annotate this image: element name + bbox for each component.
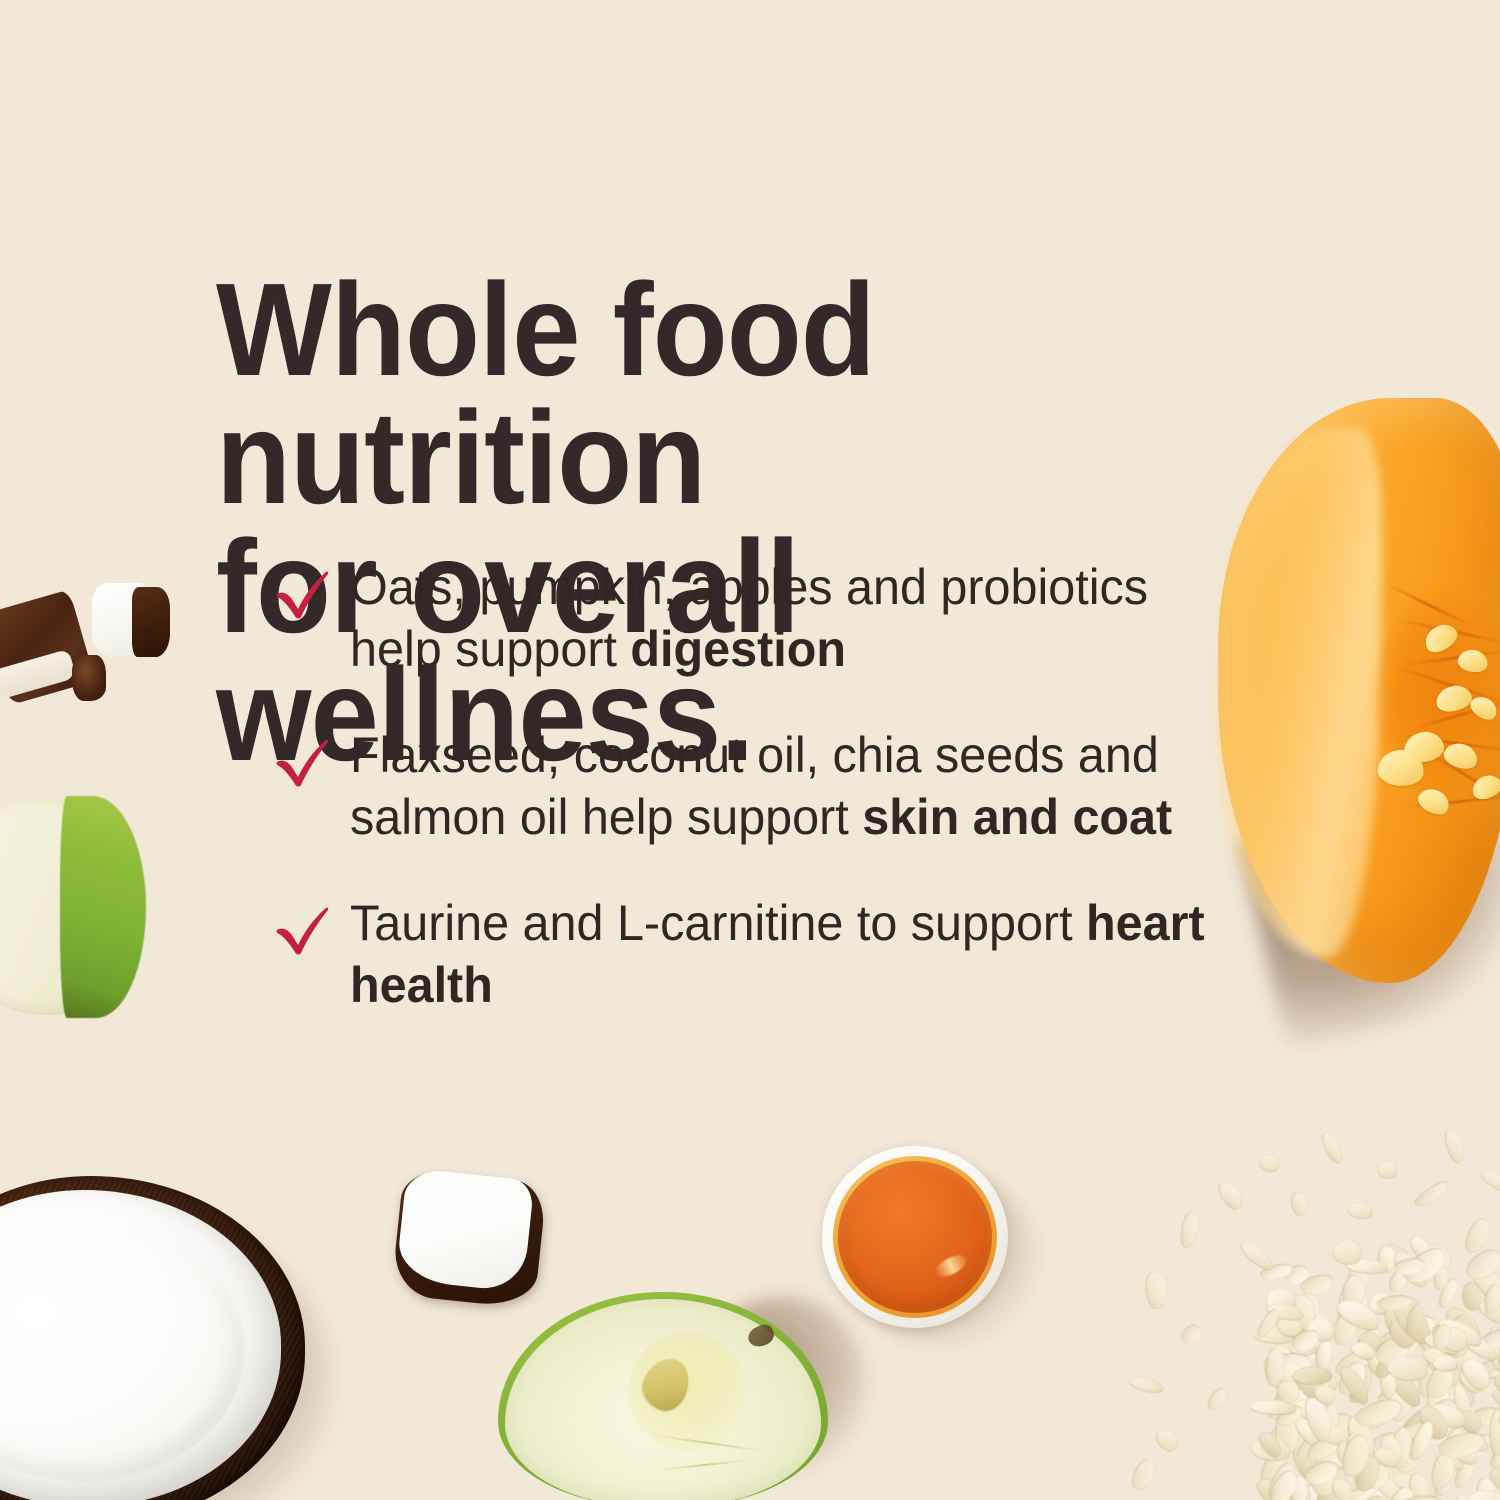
list-item-text: Oats, pumpkin, apples and probiotics hel…: [350, 556, 1225, 680]
list-item-emphasis: digestion: [630, 621, 846, 677]
check-icon: [274, 568, 332, 620]
list-item-lead: Taurine and L-carnitine to support: [350, 895, 1086, 951]
check-icon: [274, 736, 332, 788]
list-item-text: Taurine and L-carnitine to support heart…: [350, 892, 1225, 1016]
list-item: Flaxseed, coconut oil, chia seeds and sa…: [272, 724, 1252, 848]
list-item-emphasis: skin and coat: [862, 789, 1172, 845]
list-item-text: Flaxseed, coconut oil, chia seeds and sa…: [350, 724, 1225, 848]
check-icon: [274, 904, 332, 956]
benefit-list: Oats, pumpkin, apples and probiotics hel…: [272, 556, 1252, 1016]
list-item: Taurine and L-carnitine to support heart…: [272, 892, 1252, 1016]
promo-graphic: Whole food nutrition for overall wellnes…: [0, 0, 1500, 1500]
list-item: Oats, pumpkin, apples and probiotics hel…: [272, 556, 1252, 680]
